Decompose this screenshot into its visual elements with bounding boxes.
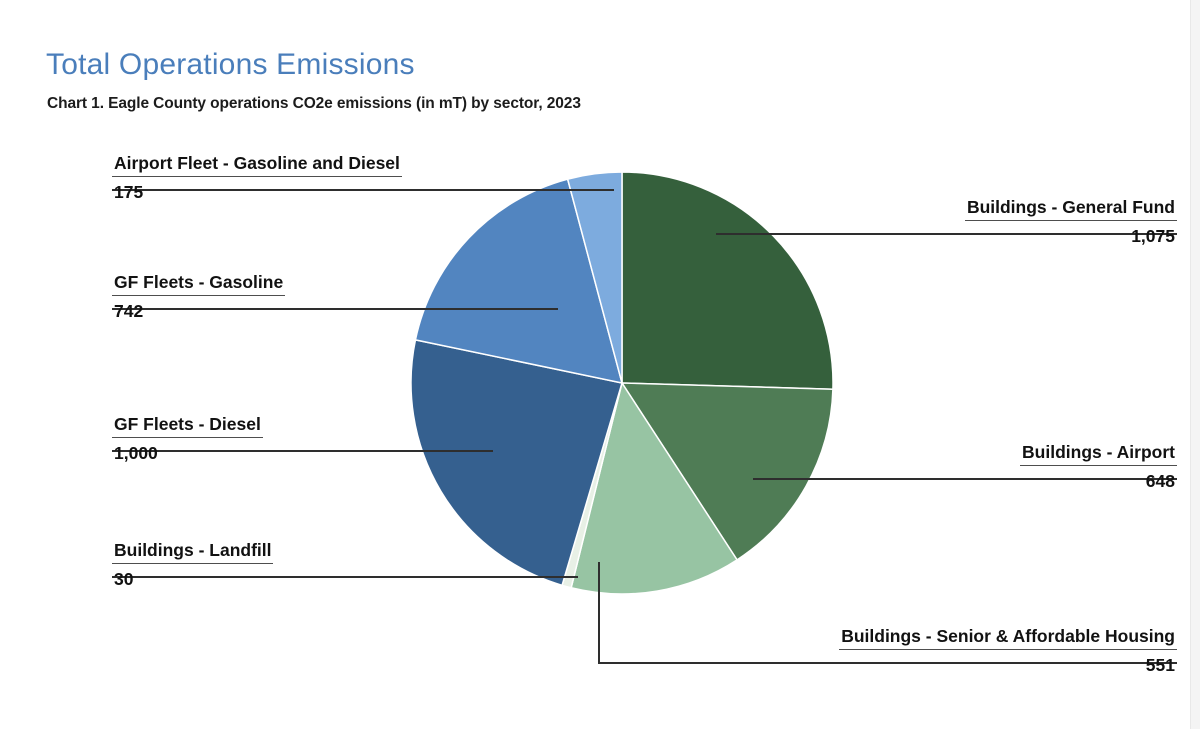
pie-chart: Airport Fleet - Gasoline and Diesel 175 … xyxy=(0,0,1200,729)
callout-buildings-landfill-label: Buildings - Landfill xyxy=(112,540,273,564)
callout-gf-fleets-diesel-value: 1,000 xyxy=(112,438,263,464)
callout-buildings-airport-label: Buildings - Airport xyxy=(1020,442,1177,466)
callout-gf-fleets-gasoline: GF Fleets - Gasoline 742 xyxy=(112,272,285,323)
leader-line-buildings-housing-stem xyxy=(598,562,600,662)
callout-gf-fleets-gasoline-label: GF Fleets - Gasoline xyxy=(112,272,285,296)
callout-buildings-airport-value: 648 xyxy=(1020,466,1177,492)
callout-buildings-general-fund-value: 1,075 xyxy=(965,221,1177,247)
callout-buildings-housing-label: Buildings - Senior & Affordable Housing xyxy=(839,626,1177,650)
callout-buildings-airport: Buildings - Airport 648 xyxy=(1020,442,1177,493)
pie-chart-svg xyxy=(0,0,1200,729)
callout-gf-fleets-diesel-label: GF Fleets - Diesel xyxy=(112,414,263,438)
callout-gf-fleets-gasoline-value: 742 xyxy=(112,296,285,322)
document-page: Total Operations Emissions Chart 1. Eagl… xyxy=(0,0,1200,729)
callout-buildings-general-fund-label: Buildings - General Fund xyxy=(965,197,1177,221)
callout-buildings-landfill-value: 30 xyxy=(112,564,273,590)
callout-airport-fleet: Airport Fleet - Gasoline and Diesel 175 xyxy=(112,153,402,204)
callout-buildings-general-fund: Buildings - General Fund 1,075 xyxy=(965,197,1177,248)
callout-buildings-landfill: Buildings - Landfill 30 xyxy=(112,540,273,591)
callout-buildings-housing-value: 551 xyxy=(839,650,1177,676)
callout-airport-fleet-label: Airport Fleet - Gasoline and Diesel xyxy=(112,153,402,177)
callout-buildings-housing: Buildings - Senior & Affordable Housing … xyxy=(839,626,1177,677)
pie-slice xyxy=(622,172,833,389)
callout-airport-fleet-value: 175 xyxy=(112,177,402,203)
callout-gf-fleets-diesel: GF Fleets - Diesel 1,000 xyxy=(112,414,263,465)
